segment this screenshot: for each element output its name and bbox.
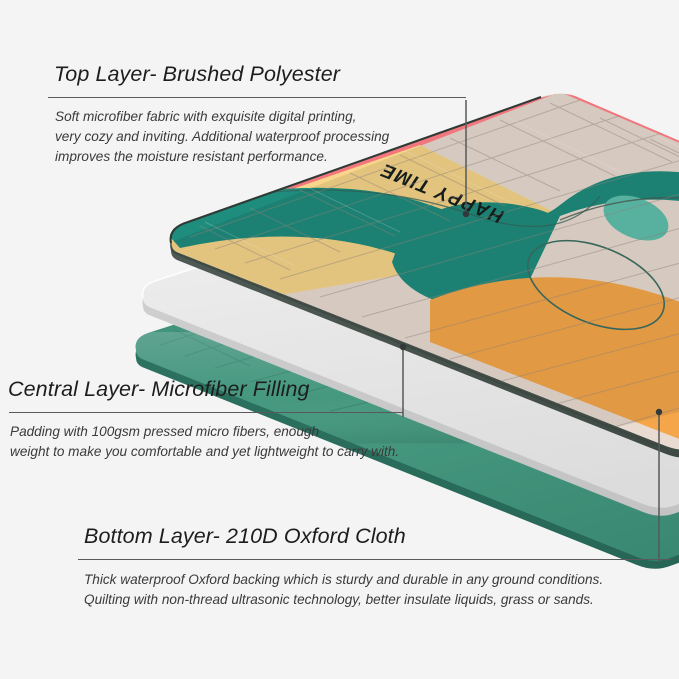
callout-group: Top Layer- Brushed Polyester Soft microf… [0, 0, 679, 679]
callout-top-body: Soft microfiber fabric with exquisite di… [55, 107, 470, 167]
callout-central-body: Padding with 100gsm pressed micro fibers… [10, 422, 450, 462]
callout-top-body-line-1: Soft microfiber fabric with exquisite di… [55, 107, 470, 127]
callout-bottom-layer: Bottom Layer- 210D Oxford Cloth Thick wa… [0, 524, 679, 610]
callout-central-title: Central Layer- Microfiber Filling [8, 377, 450, 402]
callout-bottom-title: Bottom Layer- 210D Oxford Cloth [84, 524, 679, 549]
callout-bottom-body-line-1: Thick waterproof Oxford backing which is… [84, 570, 679, 590]
callout-bottom-body-line-2: Quilting with non-thread ultrasonic tech… [84, 590, 679, 610]
callout-bottom-rule [78, 559, 671, 560]
callout-central-body-line-2: weight to make you comfortable and yet l… [10, 442, 450, 462]
callout-top-layer: Top Layer- Brushed Polyester Soft microf… [0, 62, 470, 167]
callout-bottom-body: Thick waterproof Oxford backing which is… [84, 570, 679, 610]
callout-central-rule [9, 412, 403, 413]
infographic-canvas: HAPPY TIME [0, 0, 679, 679]
callout-top-rule [48, 97, 466, 98]
callout-top-body-line-3: improves the moisture resistant performa… [55, 147, 470, 167]
callout-central-layer: Central Layer- Microfiber Filling Paddin… [0, 377, 450, 462]
callout-top-title: Top Layer- Brushed Polyester [54, 62, 470, 87]
callout-central-body-line-1: Padding with 100gsm pressed micro fibers… [10, 422, 450, 442]
callout-top-body-line-2: very cozy and inviting. Additional water… [55, 127, 470, 147]
